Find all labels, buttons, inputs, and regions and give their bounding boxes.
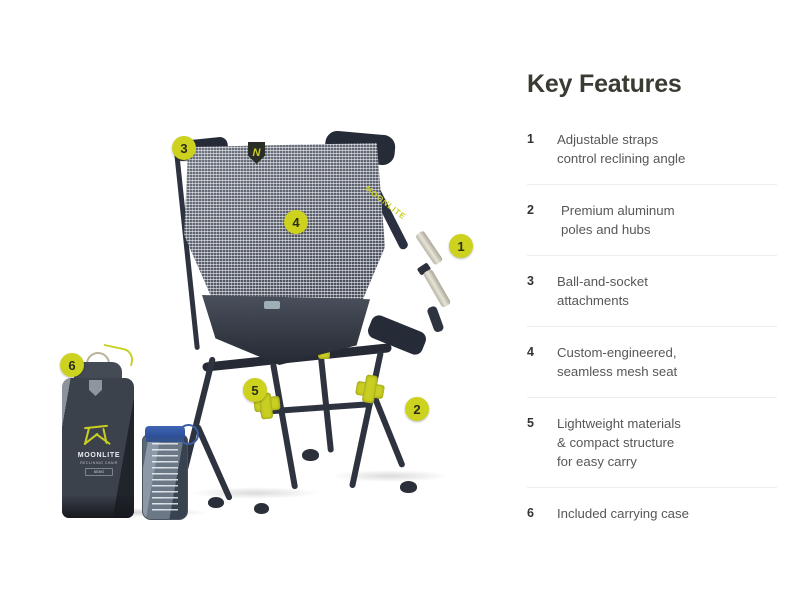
callout-badge-6[interactable]: 6 bbox=[60, 353, 84, 377]
camp-chair: N MOONLITE bbox=[150, 125, 510, 505]
feature-item-1: 1Adjustable strapscontrol reclining angl… bbox=[527, 130, 777, 184]
callout-badge-1[interactable]: 1 bbox=[449, 234, 473, 258]
case-label: MOONLITE RECLINING CHAIR NEMO bbox=[76, 452, 122, 476]
leg-splay-left bbox=[194, 424, 233, 501]
foot-center bbox=[302, 449, 319, 461]
aluminum-pole-lower bbox=[423, 269, 452, 309]
feature-number-1: 1 bbox=[527, 130, 557, 149]
feature-divider bbox=[527, 255, 777, 256]
aluminum-pole-upper bbox=[415, 230, 443, 265]
leg-front-right bbox=[370, 392, 406, 468]
callout-badge-3[interactable]: 3 bbox=[172, 136, 196, 160]
feature-number-4: 4 bbox=[527, 343, 557, 362]
callout-badge-2[interactable]: 2 bbox=[405, 397, 429, 421]
feature-item-6: 6Included carrying case bbox=[527, 504, 777, 539]
product-photo: N MOONLITE bbox=[0, 0, 505, 600]
foot-left bbox=[208, 497, 224, 508]
key-features-panel: Key Features 1Adjustable strapscontrol r… bbox=[527, 72, 777, 539]
feature-number-6: 6 bbox=[527, 504, 557, 523]
feature-text-3: Ball-and-socketattachments bbox=[557, 272, 648, 310]
feature-list: 1Adjustable strapscontrol reclining angl… bbox=[527, 130, 777, 539]
case-chair-graphic-icon bbox=[80, 424, 120, 452]
bottle-cap-ring bbox=[146, 437, 184, 442]
feature-text-2: Premium aluminumpoles and hubs bbox=[557, 201, 675, 239]
feature-item-3: 3Ball-and-socketattachments bbox=[527, 272, 777, 326]
callout-badge-4[interactable]: 4 bbox=[284, 210, 308, 234]
leg-center-left bbox=[270, 362, 298, 489]
case-tag-text: NEMO bbox=[85, 468, 113, 476]
foot-right bbox=[400, 481, 417, 493]
feature-number-3: 3 bbox=[527, 272, 557, 291]
foot-rear bbox=[254, 503, 269, 514]
feature-item-5: 5Lightweight materials& compact structur… bbox=[527, 414, 777, 487]
feature-text-5: Lightweight materials& compact structure… bbox=[557, 414, 681, 471]
carrying-case: MOONLITE RECLINING CHAIR NEMO bbox=[62, 378, 134, 518]
feature-item-4: 4Custom-engineered,seamless mesh seat bbox=[527, 343, 777, 397]
feature-item-2: 2Premium aluminumpoles and hubs bbox=[527, 201, 777, 255]
feature-divider bbox=[527, 397, 777, 398]
strap-buckle bbox=[264, 301, 280, 309]
water-bottle-scale-reference bbox=[142, 420, 188, 520]
bottle-body bbox=[142, 434, 188, 520]
feature-divider bbox=[527, 184, 777, 185]
feature-number-5: 5 bbox=[527, 414, 557, 433]
feature-divider bbox=[527, 326, 777, 327]
feature-text-1: Adjustable strapscontrol reclining angle bbox=[557, 130, 685, 168]
pole-tip-right bbox=[426, 305, 444, 333]
nemo-logo-letter: N bbox=[253, 148, 261, 159]
case-brand-text: MOONLITE bbox=[76, 452, 122, 459]
feature-number-2: 2 bbox=[527, 201, 557, 220]
leg-rear-right bbox=[349, 350, 384, 488]
callout-badge-5[interactable]: 5 bbox=[243, 378, 267, 402]
case-subtitle-text: RECLINING CHAIR bbox=[76, 461, 122, 465]
feature-text-6: Included carrying case bbox=[557, 504, 689, 523]
feature-text-4: Custom-engineered,seamless mesh seat bbox=[557, 343, 677, 381]
infographic-page: N MOONLITE bbox=[0, 0, 800, 600]
bottle-graduations-secondary bbox=[152, 443, 163, 513]
page-title: Key Features bbox=[527, 72, 777, 97]
feature-divider bbox=[527, 487, 777, 488]
